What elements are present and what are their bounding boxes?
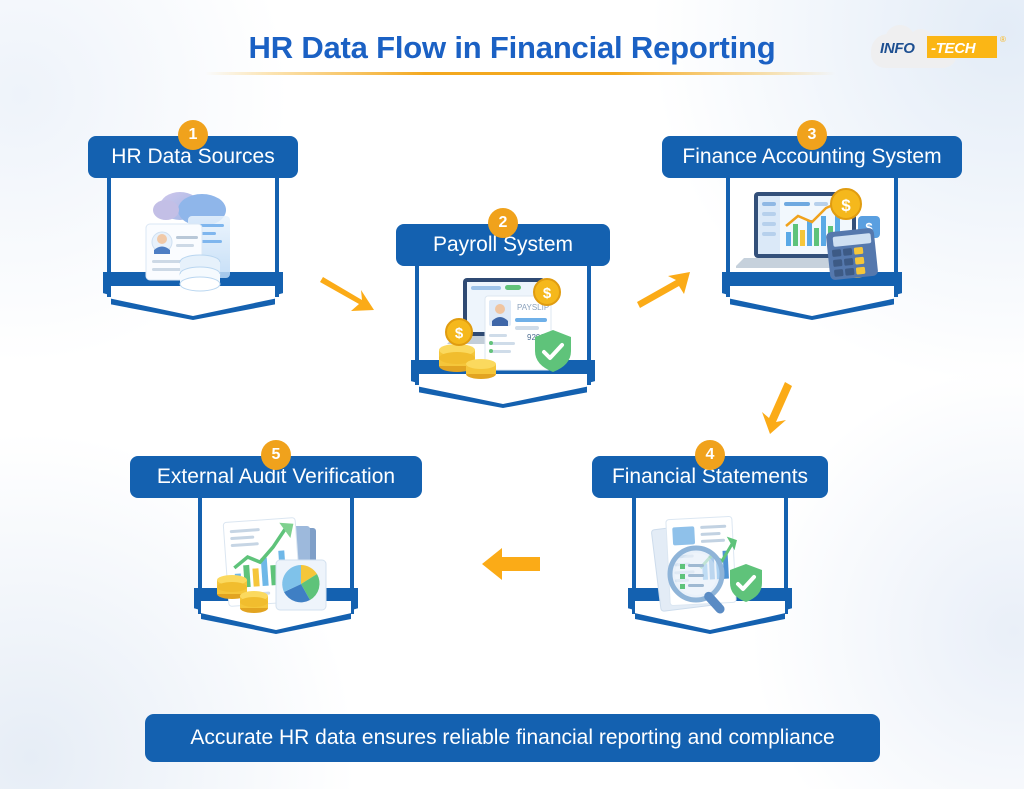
infographic-canvas: HR Data Flow in Financial Reporting INFO… (0, 0, 1024, 789)
connector-arrow-4-to-5 (478, 544, 544, 584)
payroll-system-icon: PAYSLIP 92900 $ (429, 270, 577, 386)
connector-arrow-3-to-4 (752, 382, 808, 438)
title-underline-accent (205, 72, 835, 75)
logo-info-text: INFO (880, 40, 915, 57)
step-number-badge: 3 (797, 120, 827, 150)
external-audit-icon (206, 504, 346, 620)
connector-arrow-1-to-2 (318, 270, 380, 320)
info-tech-logo: INFO -TECH ® (869, 30, 1009, 72)
summary-banner: Accurate HR data ensures reliable financ… (145, 714, 880, 762)
financial-statements-icon (642, 508, 778, 620)
hr-data-sources-icon (128, 186, 258, 298)
svg-text:$: $ (455, 325, 464, 342)
step-number-badge: 1 (178, 120, 208, 150)
registered-trademark-icon: ® (1000, 35, 1006, 44)
svg-text:$: $ (841, 196, 851, 215)
logo-tech-text: -TECH (931, 40, 975, 57)
finance-accounting-icon: $ $ (736, 182, 888, 294)
step-number-badge: 4 (695, 440, 725, 470)
step-number-badge: 2 (488, 208, 518, 238)
svg-text:$: $ (543, 285, 552, 302)
connector-arrow-2-to-3 (634, 262, 696, 310)
step-number-badge: 5 (261, 440, 291, 470)
